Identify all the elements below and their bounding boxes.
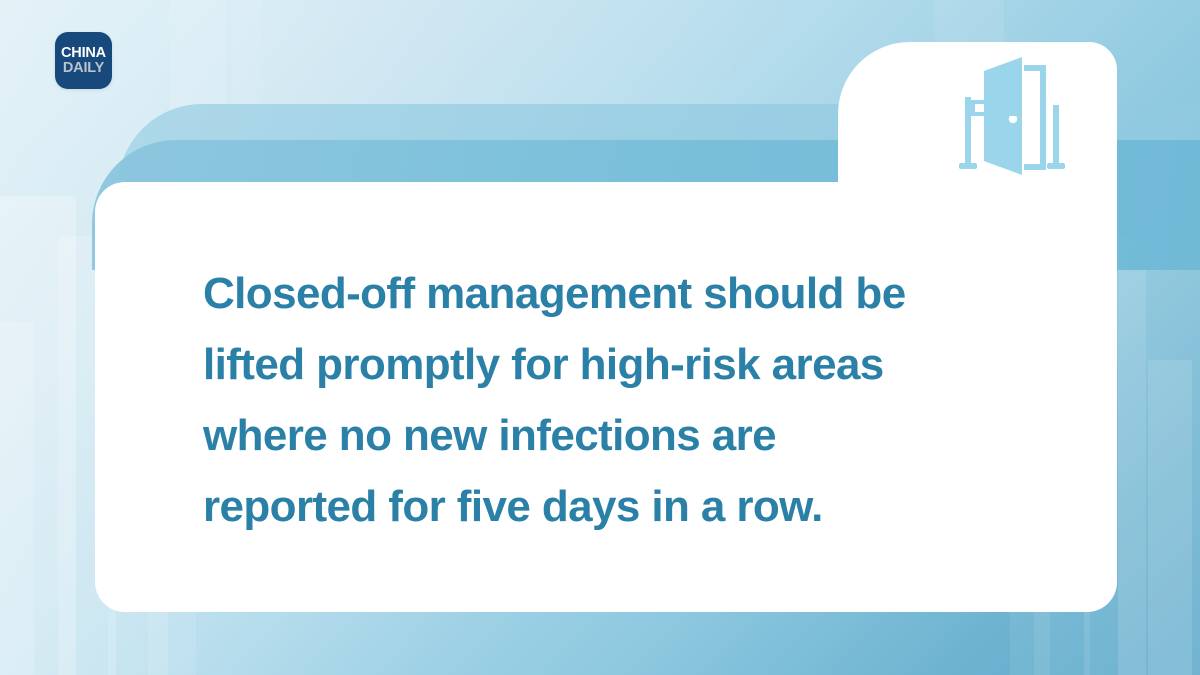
headline-line: reported for five days in a row.: [203, 471, 1063, 542]
poster-canvas: CHINA DAILY Closed-off management should…: [0, 0, 1200, 675]
open-door-with-lifted-barrier-icon: [940, 55, 1070, 180]
headline: Closed-off management should be lifted p…: [203, 258, 1063, 542]
headline-line: where no new infections are: [203, 400, 1063, 471]
headline-line: Closed-off management should be: [203, 258, 1063, 329]
logo-text-china: CHINA: [61, 46, 106, 61]
logo-text-daily: DAILY: [63, 61, 104, 76]
background-building-shape: [0, 322, 34, 675]
china-daily-logo: CHINA DAILY: [55, 32, 112, 89]
background-building-shape: [1148, 360, 1192, 675]
headline-line: lifted promptly for high-risk areas: [203, 329, 1063, 400]
